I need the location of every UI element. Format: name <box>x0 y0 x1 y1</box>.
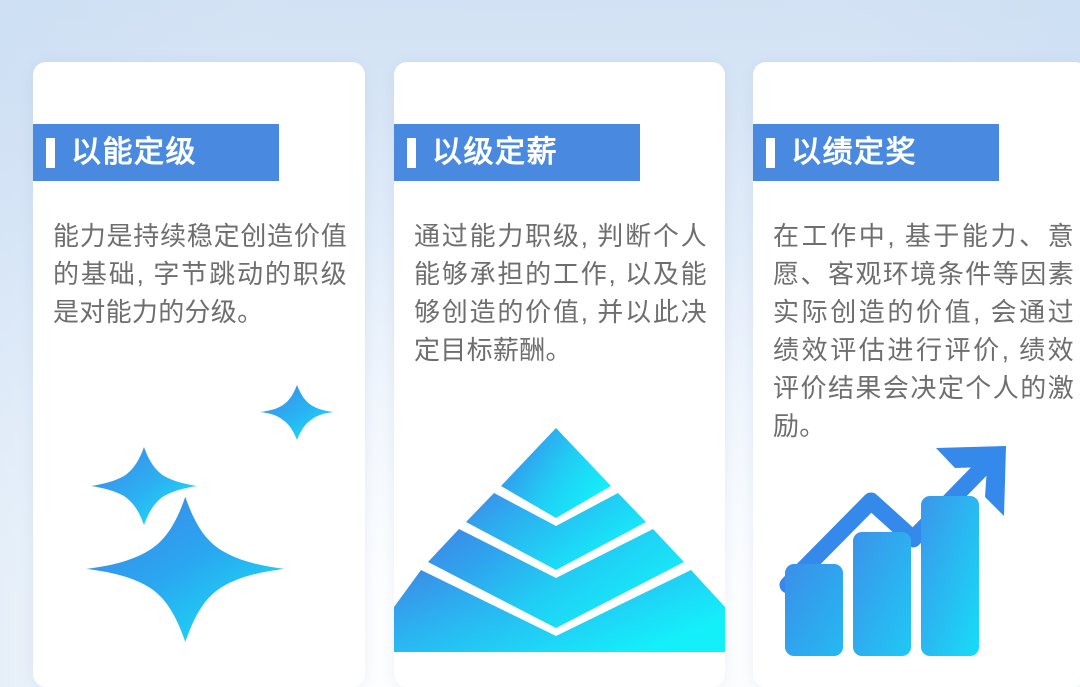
infographic-stage: 以能定级 能力是持续稳定创造价值的基础, 字节跳动的职级是对能力的分级。 <box>0 0 1080 687</box>
info-card-performance-reward: 以绩定奖 在工作中, 基于能力、意愿、客观环境条件等因素实际创造的价值, 会通过… <box>753 62 1080 687</box>
card-body-text: 通过能力职级, 判断个人能够承担的工作, 以及能够创造的价值, 并以此决定目标薪… <box>414 217 707 369</box>
badge-accent-bar <box>766 138 775 168</box>
pyramid-icon <box>394 387 725 687</box>
card-title-badge: 以绩定奖 <box>753 124 999 181</box>
badge-accent-bar <box>407 138 416 168</box>
badge-accent-bar <box>46 138 55 168</box>
card-title: 以级定薪 <box>432 138 558 168</box>
info-card-capability-grade: 以能定级 能力是持续稳定创造价值的基础, 字节跳动的职级是对能力的分级。 <box>33 62 365 687</box>
sparkles-icon <box>33 365 365 665</box>
info-card-grade-salary: 以级定薪 通过能力职级, 判断个人能够承担的工作, 以及能够创造的价值, 并以此… <box>394 62 725 687</box>
card-title-badge: 以能定级 <box>33 124 279 181</box>
card-body-text: 能力是持续稳定创造价值的基础, 字节跳动的职级是对能力的分级。 <box>53 217 347 331</box>
card-title: 以能定级 <box>71 138 197 168</box>
card-title: 以绩定奖 <box>791 138 917 168</box>
card-body-text: 在工作中, 基于能力、意愿、客观环境条件等因素实际创造的价值, 会通过绩效评估进… <box>773 217 1074 445</box>
card-title-badge: 以级定薪 <box>394 124 640 181</box>
